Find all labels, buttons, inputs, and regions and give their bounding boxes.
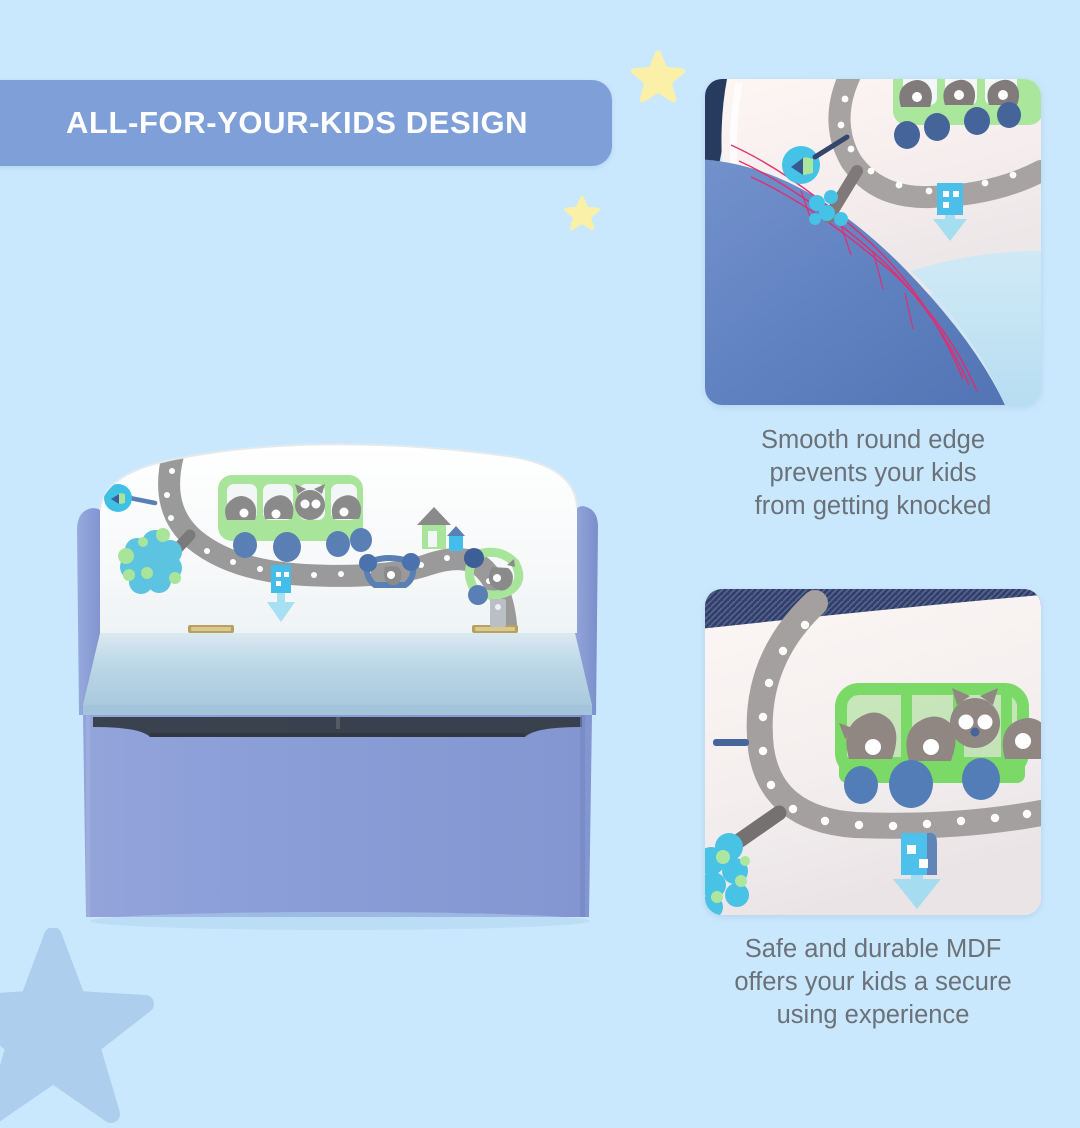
caption-line: Safe and durable MDF bbox=[690, 933, 1056, 966]
page-title: ALL-FOR-YOUR-KIDS DESIGN bbox=[0, 105, 528, 141]
caption-line: from getting knocked bbox=[690, 490, 1056, 523]
headline-banner: ALL-FOR-YOUR-KIDS DESIGN bbox=[0, 80, 612, 166]
product-photo bbox=[55, 415, 645, 955]
star-large-decoration bbox=[630, 50, 686, 104]
star-corner-decoration bbox=[0, 928, 168, 1128]
caption-line: Smooth round edge bbox=[690, 424, 1056, 457]
inset-mdf-panel bbox=[705, 589, 1041, 915]
inset-smooth-round-edge bbox=[705, 79, 1041, 405]
caption-line: prevents your kids bbox=[690, 457, 1056, 490]
caption-mdf-material: Safe and durable MDF offers your kids a … bbox=[690, 933, 1056, 1032]
poster-stage: ALL-FOR-YOUR-KIDS DESIGN bbox=[0, 0, 1080, 1080]
caption-line: using experience bbox=[690, 999, 1056, 1032]
star-small-decoration bbox=[564, 196, 600, 231]
caption-smooth-round-edge: Smooth round edge prevents your kids fro… bbox=[690, 424, 1056, 523]
caption-line: offers your kids a secure bbox=[690, 966, 1056, 999]
